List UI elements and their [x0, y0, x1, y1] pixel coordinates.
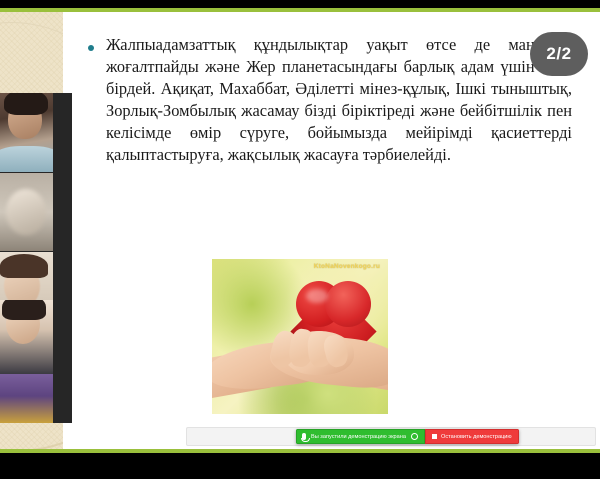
avatar-hair [4, 93, 48, 115]
screen-share-control-bar[interactable]: Вы запустили демонстрацию экрана Останов… [296, 429, 519, 444]
bullet-dot-icon [88, 45, 94, 51]
heart-lobe-right [325, 281, 371, 327]
stop-square-icon [432, 434, 437, 439]
presentation-slide: Жалпыадамзаттық құндылықтар уақыт өтсе д… [0, 12, 600, 449]
slide-green-frame: Жалпыадамзаттық құндылықтар уақыт өтсе д… [0, 8, 600, 453]
slide-frame-inner: Жалпыадамзаттық құндылықтар уақыт өтсе д… [0, 12, 600, 449]
gear-icon[interactable] [411, 433, 418, 440]
avatar [6, 189, 46, 235]
image-watermark: KtoNaNovenkogo.ru [314, 263, 380, 270]
participant-tile[interactable] [0, 374, 53, 423]
heart-highlight [306, 289, 328, 303]
share-status-label: Вы запустили демонстрацию экрана [311, 434, 406, 440]
avatar-shirt [0, 146, 53, 172]
avatar-hair [2, 300, 46, 320]
participant-tile[interactable] [0, 300, 53, 374]
slide-image-hands-heart: KtoNaNovenkogo.ru [212, 259, 388, 414]
bullet-item: Жалпыадамзаттық құндылықтар уақыт өтсе д… [88, 34, 578, 166]
slide-body: Жалпыадамзаттық құндылықтар уақыт өтсе д… [88, 34, 578, 166]
stop-share-button[interactable]: Остановить демонстрацию [425, 429, 519, 444]
avatar-hair [0, 254, 48, 278]
letterbox-top [0, 0, 600, 8]
participant-tile[interactable] [0, 173, 53, 251]
screen-share-view: Жалпыадамзаттық құндылықтар уақыт өтсе д… [0, 0, 600, 479]
bullet-paragraph: Жалпыадамзаттық құндылықтар уақыт өтсе д… [106, 34, 572, 166]
participant-tile[interactable] [0, 93, 53, 172]
stop-share-label: Остановить демонстрацию [441, 434, 512, 440]
share-status-group[interactable]: Вы запустили демонстрацию экрана [296, 429, 425, 444]
page-indicator-badge: 2/2 [530, 32, 588, 76]
microphone-icon[interactable] [302, 433, 306, 440]
letterbox-bottom [0, 453, 600, 479]
